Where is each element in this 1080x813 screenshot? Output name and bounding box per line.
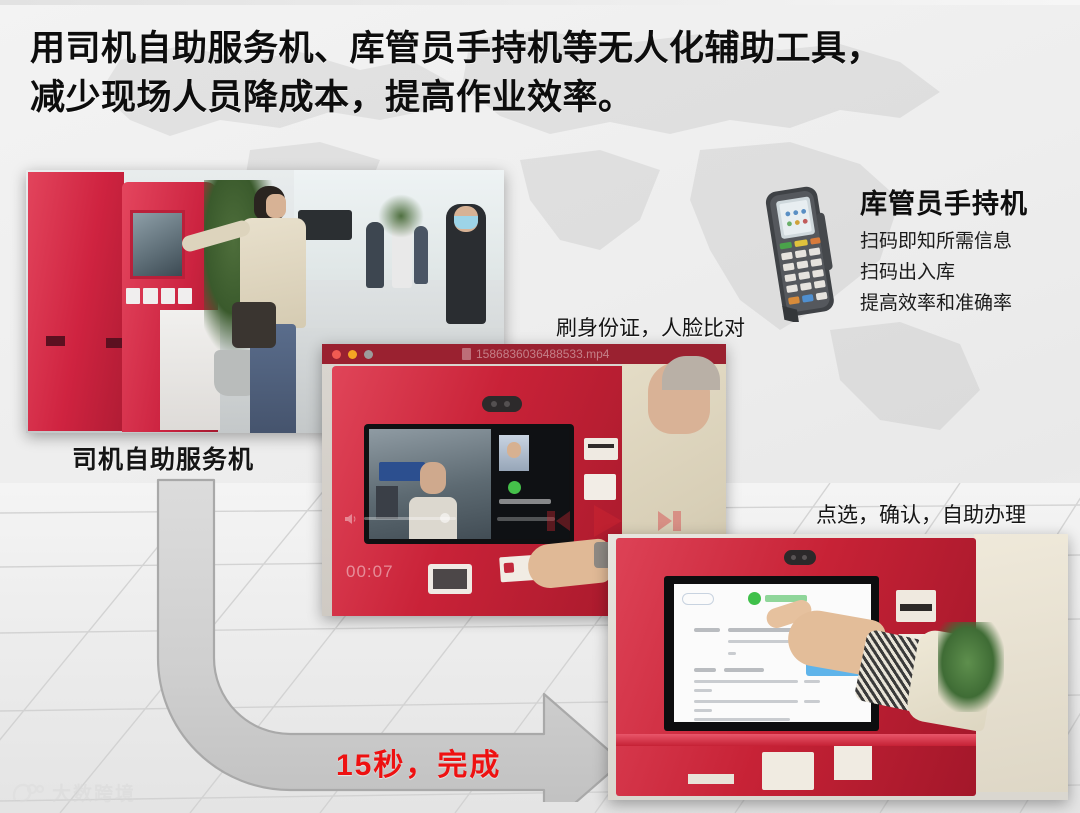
kiosk-camera-icon: [784, 550, 816, 565]
handheld-title: 库管员手持机: [860, 182, 1028, 221]
page-title: 用司机自助服务机、库管员手持机等无人化辅助工具， 减少现场人员降成本，提高作业效…: [30, 24, 1060, 122]
self-service-confirm-photo: [608, 534, 1068, 800]
verify-pass-icon: [748, 592, 761, 605]
da-shu-kua-jing-logo: [12, 782, 44, 804]
verify-ok-icon: [508, 481, 521, 494]
watermark-text: 大数跨境: [52, 779, 136, 806]
video-filename-text: 1586836036488533.mp4: [476, 347, 609, 361]
file-icon: [462, 348, 471, 360]
kiosk-monitor: [364, 424, 574, 544]
caption-select-confirm: 点选，确认，自助办理: [816, 499, 1026, 529]
handheld-feature: 扫码出入库: [860, 257, 1012, 288]
back-button[interactable]: [682, 593, 714, 605]
slide-canvas: 用司机自助服务机、库管员手持机等无人化辅助工具， 减少现场人员降成本，提高作业效…: [0, 0, 1080, 813]
arrow-label: 15秒，完成: [336, 740, 501, 784]
caption-id-face: 刷身份证，人脸比对: [556, 312, 745, 342]
window-dots: [332, 350, 373, 359]
handheld-feature: 提高效率和准确率: [860, 288, 1012, 319]
video-window-titlebar: 1586836036488533.mp4: [322, 344, 726, 364]
top-divider: [0, 0, 1080, 5]
handheld-feature-list: 扫码即知所需信息 扫码出入库 提高效率和准确率: [860, 226, 1012, 319]
watermark: 大数跨境: [12, 779, 136, 806]
video-filename: 1586836036488533.mp4: [462, 346, 702, 363]
id-photo-thumbnail: [499, 435, 529, 471]
caption-driver-kiosk: 司机自助服务机: [72, 440, 254, 476]
kiosk-camera-icon: [482, 396, 522, 412]
handheld-scanner-icon: [744, 182, 862, 322]
handheld-feature: 扫码即知所需信息: [860, 226, 1012, 257]
